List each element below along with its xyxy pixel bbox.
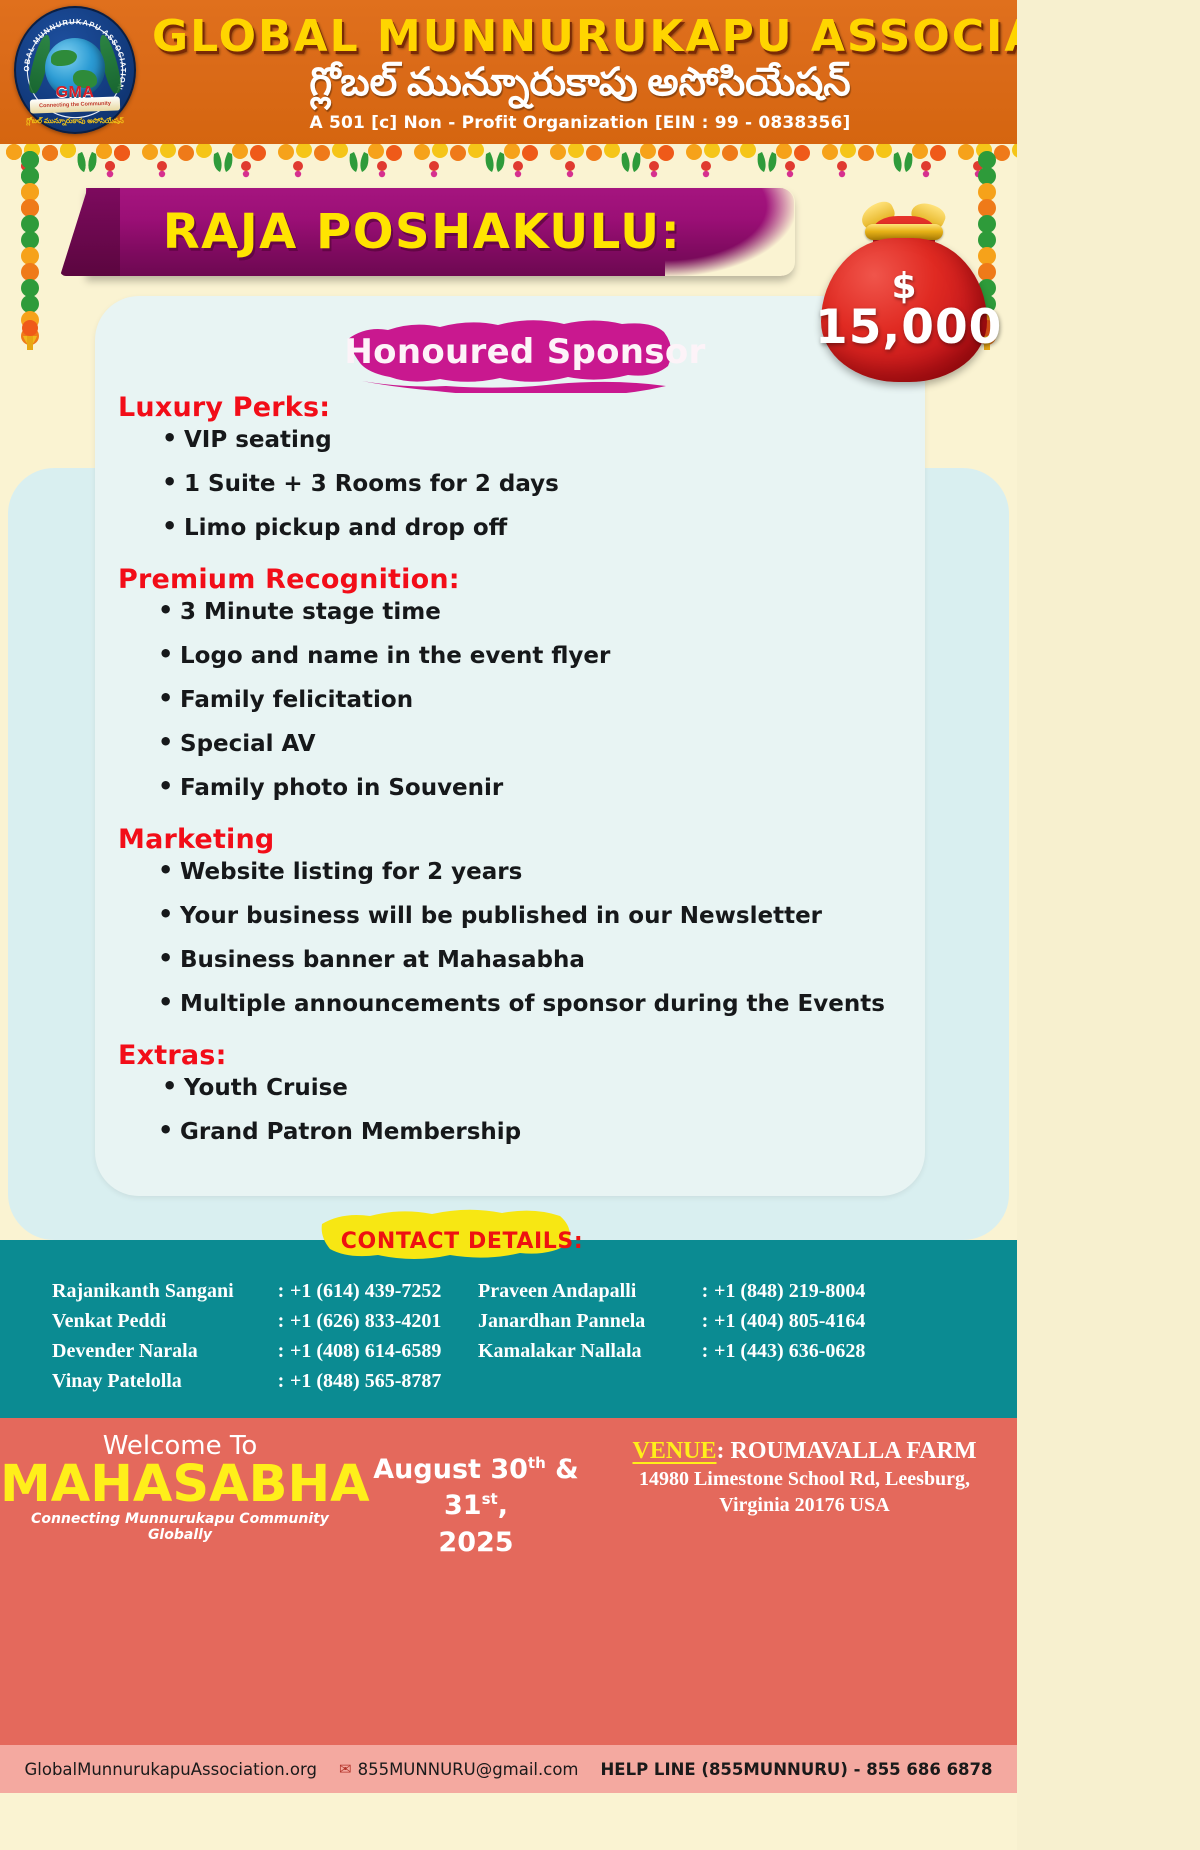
perk-list-luxury: VIP seating 1 Suite + 3 Rooms for 2 days…	[118, 429, 938, 540]
sponsor-badge-label: Honoured Sponsor	[342, 317, 708, 393]
venue-address-line2: Virginia 20176 USA	[592, 1494, 1017, 1517]
list-item: Family photo in Souvenir	[118, 777, 938, 800]
contact-phone[interactable]: +1 (614) 439-7252	[290, 1280, 470, 1303]
header-text-block: GLOBAL MUNNURUKAPU ASSOCIATION గ్లోబల్ మ…	[152, 11, 1008, 133]
contact-row: Vinay Patelolla : +1 (848) 565-8787	[0, 1370, 470, 1393]
event-name: MAHASABHA	[0, 1459, 360, 1510]
contact-name: Rajanikanth Sangani	[52, 1280, 272, 1303]
contact-separator: :	[696, 1280, 714, 1303]
list-item: Website listing for 2 years	[118, 861, 938, 884]
date-ordinal-2: st	[482, 1490, 498, 1508]
header-band: GLOBAL MUNNURUKAPU ASSOCIATION GMA Conne…	[0, 0, 1017, 144]
contact-name: Vinay Patelolla	[52, 1370, 272, 1393]
org-title-english: GLOBAL MUNNURUKAPU ASSOCIATION	[152, 15, 1008, 59]
footer-band: Welcome To MAHASABHA Connecting Munnuruk…	[0, 1418, 1017, 1793]
list-item: Multiple announcements of sponsor during…	[118, 993, 938, 1016]
list-item: Business banner at Mahasabha	[118, 949, 938, 972]
contact-separator: :	[272, 1280, 290, 1303]
contact-name: Venkat Peddi	[52, 1310, 272, 1333]
event-dates: August 30th & 31st, 2025	[360, 1432, 592, 1561]
contact-row: Devender Narala : +1 (408) 614-6589	[0, 1340, 470, 1363]
contact-phone[interactable]: +1 (443) 636-0628	[714, 1340, 1017, 1363]
contact-separator: :	[696, 1310, 714, 1333]
list-item: Your business will be published in our N…	[118, 905, 938, 928]
contact-column-left: Rajanikanth Sangani : +1 (614) 439-7252 …	[0, 1280, 470, 1400]
list-item: Family felicitation	[118, 689, 938, 712]
contact-phone[interactable]: +1 (408) 614-6589	[290, 1340, 470, 1363]
list-item: 3 Minute stage time	[118, 601, 938, 624]
section-heading-extras: Extras:	[118, 1040, 938, 1071]
date-comma: ,	[498, 1490, 508, 1521]
org-title-telugu: గ్లోబల్ మున్నూరుకాపు అసోసియేషన్	[152, 60, 1008, 107]
contact-separator: :	[696, 1340, 714, 1363]
contact-name: Devender Narala	[52, 1340, 272, 1363]
venue-name: ROUMAVALLA FARM	[731, 1438, 977, 1464]
mail-icon: ✉	[339, 1760, 352, 1778]
contact-name: Praveen Andapalli	[478, 1280, 696, 1303]
contact-name: Janardhan Pannela	[478, 1310, 696, 1333]
perks-content: Luxury Perks: VIP seating 1 Suite + 3 Ro…	[118, 392, 938, 1165]
website-link[interactable]: GlobalMunnurukapuAssociation.org	[24, 1760, 317, 1779]
event-tagline: Connecting Munnurukapu Community Globall…	[0, 1511, 360, 1543]
perk-list-recognition: 3 Minute stage time Logo and name in the…	[118, 601, 938, 800]
event-dates-line1: August 30th & 31st,	[360, 1452, 592, 1525]
contact-grid: Rajanikanth Sangani : +1 (614) 439-7252 …	[0, 1280, 1017, 1400]
sponsorship-amount: 15,000	[815, 300, 993, 355]
logo-telugu-text: గ్లోబల్ మున్నూరుకాపు అసోసియేషన్	[16, 118, 134, 127]
contact-details-badge: CONTACT DETAILS:	[318, 1208, 606, 1270]
section-heading-marketing: Marketing	[118, 824, 938, 855]
list-item: Special AV	[118, 733, 938, 756]
footer-main: Welcome To MAHASABHA Connecting Munnuruk…	[0, 1418, 1017, 1554]
section-heading-premium-recognition: Premium Recognition:	[118, 564, 938, 595]
date-ordinal-1: th	[528, 1454, 546, 1472]
contact-phone[interactable]: +1 (848) 219-8004	[714, 1280, 1017, 1303]
venue-title-line: VENUE: ROUMAVALLA FARM	[592, 1438, 1017, 1465]
list-item: Grand Patron Membership	[118, 1121, 938, 1144]
contact-row: Rajanikanth Sangani : +1 (614) 439-7252	[0, 1280, 470, 1303]
venue-block: VENUE: ROUMAVALLA FARM 14980 Limestone S…	[592, 1432, 1017, 1517]
event-branding: Welcome To MAHASABHA Connecting Munnuruk…	[0, 1432, 360, 1543]
contact-band: CONTACT DETAILS: Rajanikanth Sangani : +…	[0, 1240, 1017, 1418]
list-item: Logo and name in the event flyer	[118, 645, 938, 668]
perk-list-extras: Youth Cruise Grand Patron Membership	[118, 1077, 938, 1144]
contact-phone[interactable]: +1 (626) 833-4201	[290, 1310, 470, 1333]
contact-row: Janardhan Pannela : +1 (404) 805-4164	[470, 1310, 1017, 1333]
contact-name: Kamalakar Nallala	[478, 1340, 696, 1363]
list-item: VIP seating	[118, 429, 938, 452]
email-block[interactable]: ✉ 855MUNNURU@gmail.com	[339, 1760, 579, 1779]
contact-row: Praveen Andapalli : +1 (848) 219-8004	[470, 1280, 1017, 1303]
list-item: Youth Cruise	[118, 1077, 938, 1100]
event-year: 2025	[360, 1525, 592, 1561]
contact-phone[interactable]: +1 (404) 805-4164	[714, 1310, 1017, 1333]
tier-title: RAJA POSHAKULU:	[163, 204, 682, 260]
marigold-garland-top	[0, 144, 1017, 182]
contact-row: Kamalakar Nallala : +1 (443) 636-0628	[470, 1340, 1017, 1363]
helpline-text[interactable]: HELP LINE (855MUNNURU) - 855 686 6878	[601, 1760, 993, 1779]
contact-row: Venkat Peddi : +1 (626) 833-4201	[0, 1310, 470, 1333]
footer-contact-strip: GlobalMunnurukapuAssociation.org ✉ 855MU…	[0, 1745, 1017, 1793]
gma-logo: GLOBAL MUNNURUKAPU ASSOCIATION GMA Conne…	[14, 6, 136, 134]
contact-details-title: CONTACT DETAILS:	[318, 1208, 606, 1270]
contact-separator: :	[272, 1310, 290, 1333]
sponsorship-flyer: GLOBAL MUNNURUKAPU ASSOCIATION GMA Conne…	[0, 0, 1017, 1850]
venue-label: VENUE	[632, 1438, 716, 1464]
venue-separator: :	[717, 1438, 725, 1464]
list-item: Limo pickup and drop off	[118, 517, 938, 540]
tier-ribbon: RAJA POSHAKULU:	[86, 188, 794, 276]
list-item: 1 Suite + 3 Rooms for 2 days	[118, 473, 938, 496]
contact-separator: :	[272, 1370, 290, 1393]
contact-separator: :	[272, 1340, 290, 1363]
venue-address-line1: 14980 Limestone School Rd, Leesburg,	[592, 1468, 1017, 1491]
email-address[interactable]: 855MUNNURU@gmail.com	[358, 1760, 579, 1779]
contact-phone[interactable]: +1 (848) 565-8787	[290, 1370, 470, 1393]
date-month-day: August 30	[373, 1454, 528, 1485]
org-nonprofit-note: A 501 [c] Non - Profit Organization [EIN…	[152, 113, 1008, 133]
perk-list-marketing: Website listing for 2 years Your busines…	[118, 861, 938, 1016]
section-heading-luxury-perks: Luxury Perks:	[118, 392, 938, 423]
money-bag-amount: $ 15,000	[815, 188, 993, 384]
contact-column-right: Praveen Andapalli : +1 (848) 219-8004 Ja…	[470, 1280, 1017, 1400]
sponsor-badge: Honoured Sponsor	[342, 317, 708, 393]
